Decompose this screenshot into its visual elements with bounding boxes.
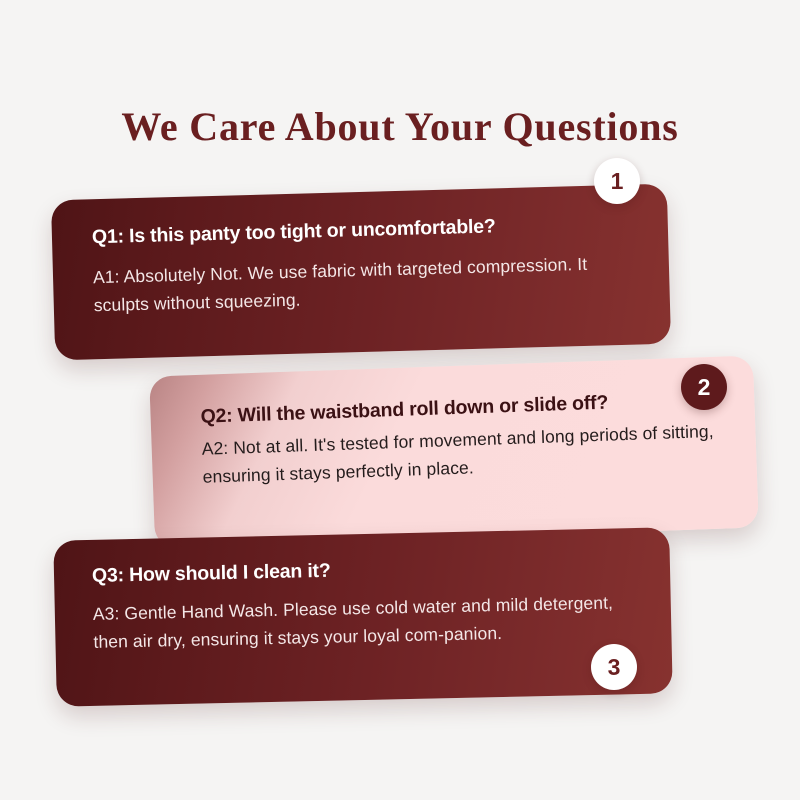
faq-card-2-body: Q2: Will the waistband roll down or slid…: [149, 356, 757, 494]
faq-question-3: Q3: How should I clean it?: [92, 552, 644, 588]
faq-badge-1: 1: [594, 158, 640, 204]
faq-card-1-body: Q1: Is this panty too tight or uncomfort…: [51, 184, 670, 321]
faq-badge-3: 3: [591, 644, 637, 690]
faq-card-3-body: Q3: How should I clean it? A3: Gentle Ha…: [53, 527, 671, 657]
faq-answer-2: A2: Not at all. It's tested for movement…: [201, 418, 731, 492]
faq-badge-2: 2: [681, 364, 727, 410]
faq-answer-1: A1: Absolutely Not. We use fabric with t…: [93, 250, 642, 320]
page-title: We Care About Your Questions: [0, 103, 800, 150]
faq-card-2[interactable]: Q2: Will the waistband roll down or slid…: [149, 356, 759, 549]
faq-question-1: Q1: Is this panty too tight or uncomfort…: [92, 210, 640, 249]
faq-answer-3: A3: Gentle Hand Wash. Please use cold wa…: [93, 589, 646, 656]
faq-card-3[interactable]: Q3: How should I clean it? A3: Gentle Ha…: [53, 527, 672, 706]
faq-page: We Care About Your Questions Q1: Is this…: [0, 0, 800, 800]
faq-card-1[interactable]: Q1: Is this panty too tight or uncomfort…: [51, 184, 671, 361]
